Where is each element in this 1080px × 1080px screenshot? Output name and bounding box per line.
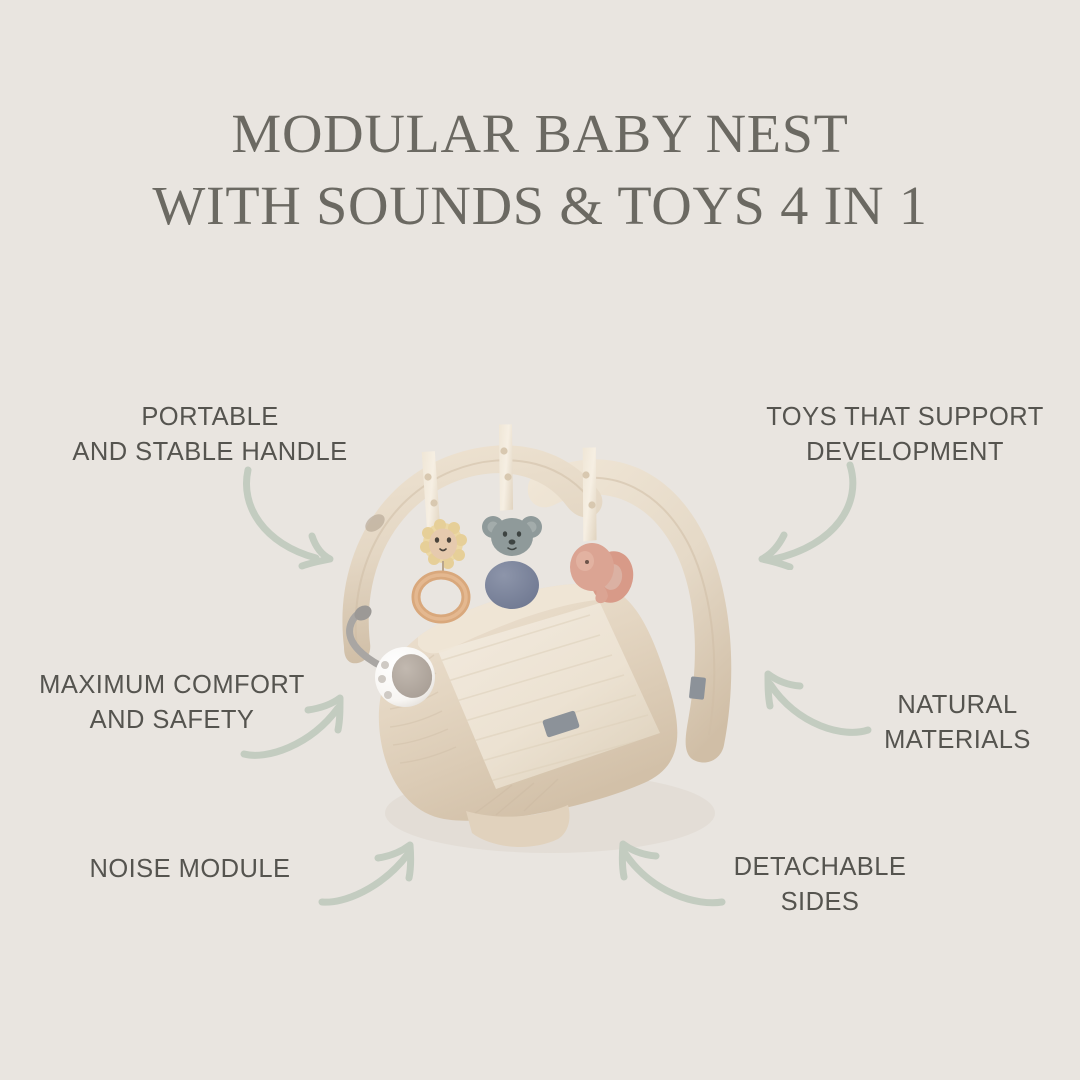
- feature-label-comfort: MAXIMUM COMFORT AND SAFETY: [22, 668, 322, 738]
- noise-module-button-3: [384, 691, 392, 699]
- feature-label-noise: NOISE MODULE: [60, 852, 320, 887]
- lion-face: [429, 529, 457, 560]
- feature-label-sides: DETACHABLE SIDES: [700, 850, 940, 920]
- koala-head: [482, 516, 542, 556]
- feature-label-natural: NATURAL MATERIALS: [855, 688, 1060, 758]
- plush-oval-rattle: [485, 561, 539, 609]
- feature-label-portable: PORTABLE AND STABLE HANDLE: [40, 400, 380, 470]
- noise-module-button-2: [378, 675, 386, 683]
- infographic-canvas: MODULAR BABY NEST WITH SOUNDS & TOYS 4 I…: [0, 0, 1080, 1080]
- noise-module-button-1: [381, 661, 389, 669]
- product-image: [300, 415, 780, 875]
- brand-tag-side: [689, 676, 706, 699]
- title-line-1: MODULAR BABY NEST: [0, 98, 1080, 170]
- feature-label-toys: TOYS THAT SUPPORT DEVELOPMENT: [735, 400, 1075, 470]
- title-line-2: WITH SOUNDS & TOYS 4 IN 1: [0, 170, 1080, 242]
- page-title: MODULAR BABY NEST WITH SOUNDS & TOYS 4 I…: [0, 98, 1080, 241]
- wooden-teether-ring: [416, 575, 466, 619]
